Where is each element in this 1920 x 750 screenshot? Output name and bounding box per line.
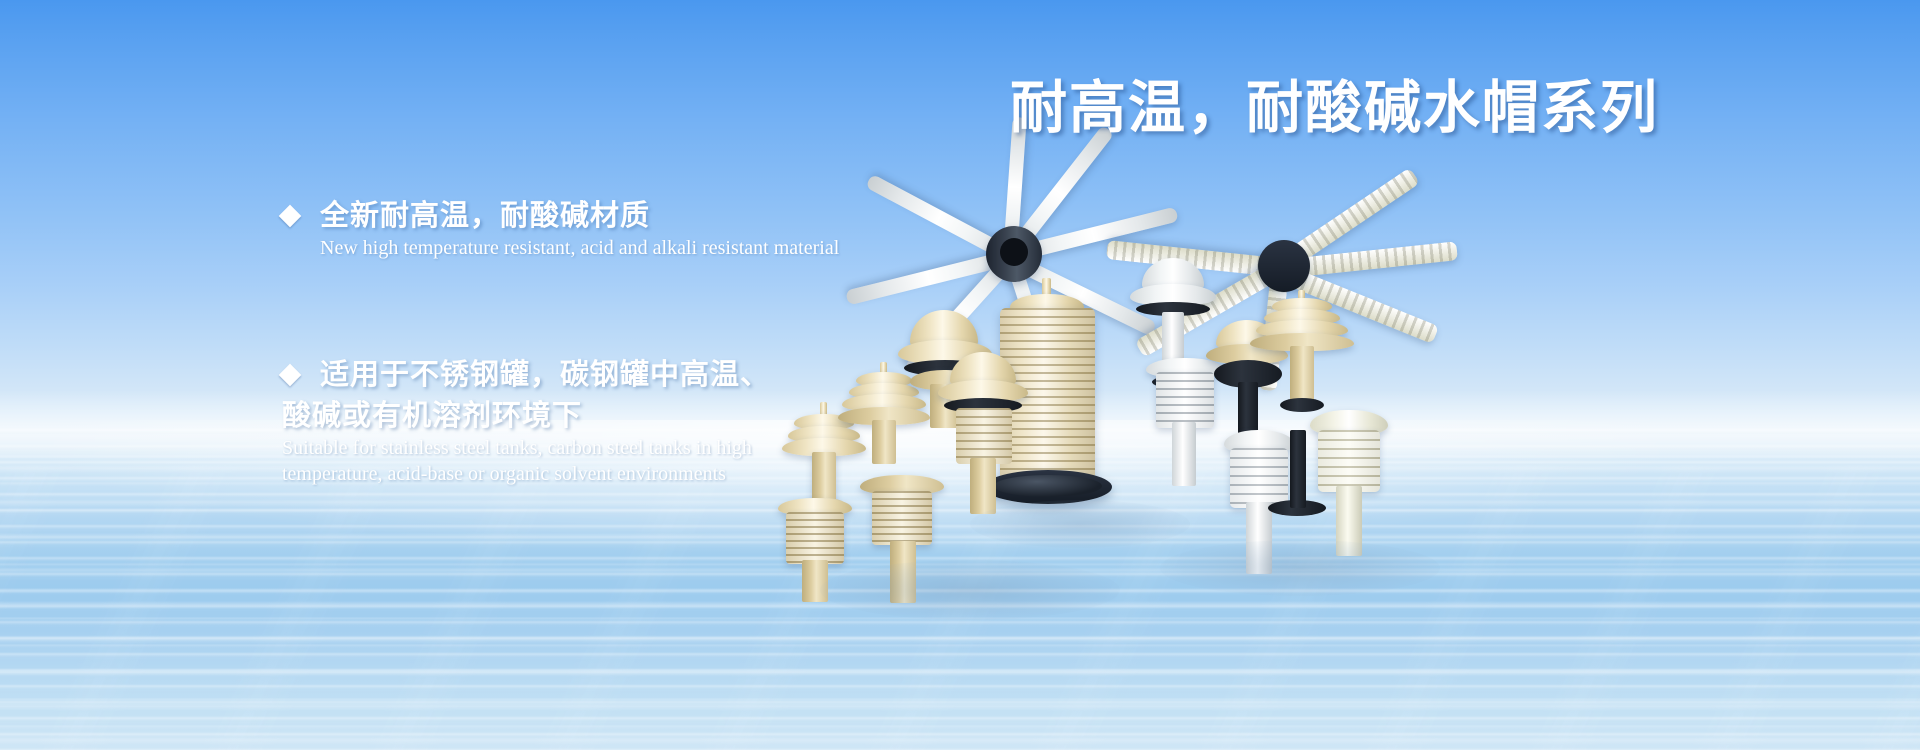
water-reflection (820, 560, 1120, 620)
feature-2-subtitle-en: Suitable for stainless steel tanks, carb… (282, 436, 1002, 487)
banner-image: 耐高温，耐酸碱水帽系列 全新耐高温，耐酸碱材质 New high tempera… (0, 0, 1920, 750)
water-reflection (970, 500, 1190, 548)
product-group (880, 130, 1840, 630)
slotted-strainer-nozzle-left (772, 498, 858, 628)
feature-item-1: 全新耐高温，耐酸碱材质 New high temperature resista… (282, 196, 1002, 262)
water-reflection (1160, 540, 1440, 596)
feature-2-title-cn-line1: 适用于不锈钢罐，碳钢罐中高温、 (320, 355, 770, 396)
feature-1-title-cn: 全新耐高温，耐酸碱材质 (320, 196, 650, 237)
diamond-bullet-icon (279, 205, 302, 228)
feature-2-title-cn-line2: 酸碱或有机溶剂环境下 (282, 396, 1002, 437)
page-title: 耐高温，耐酸碱水帽系列 (1010, 62, 1659, 144)
diamond-bullet-icon (279, 363, 302, 386)
feature-item-2: 适用于不锈钢罐，碳钢罐中高温、 酸碱或有机溶剂环境下 Suitable for … (282, 355, 1002, 488)
feature-1-subtitle-en: New high temperature resistant, acid and… (320, 236, 1002, 262)
feature-list: 全新耐高温，耐酸碱材质 New high temperature resista… (282, 196, 1002, 487)
